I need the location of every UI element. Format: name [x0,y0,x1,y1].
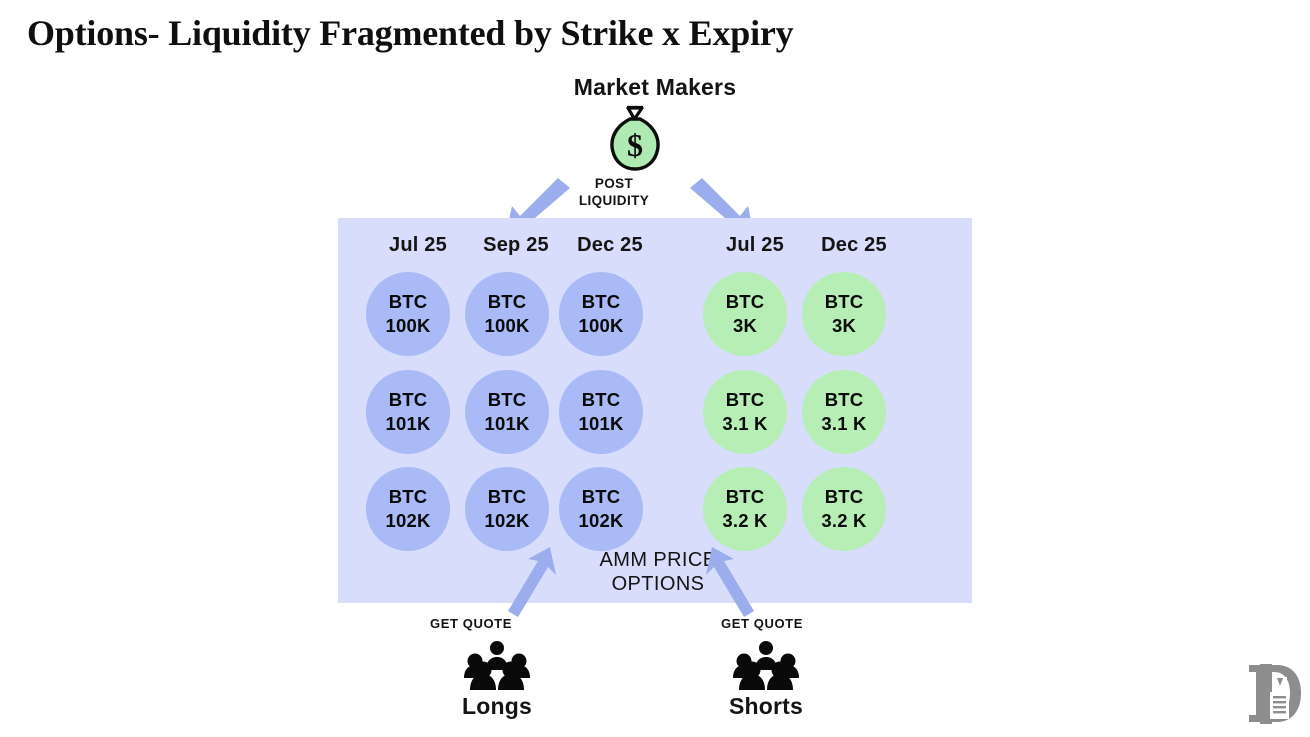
bubble-asset: BTC [488,388,527,412]
option-bubble-sep25-102k[interactable]: BTC 102K [465,467,549,551]
get-quote-label-shorts: GET QUOTE [682,616,842,631]
bubble-asset: BTC [726,485,765,509]
bubble-strike: 100K [385,314,430,338]
bubble-strike: 3.1 K [722,412,767,436]
market-makers-label: Market Makers [0,74,1310,101]
bubble-asset: BTC [825,290,864,314]
option-bubble-sep25-101k[interactable]: BTC 101K [465,370,549,454]
svg-text:$: $ [627,127,643,163]
column-header-g2-c1: Jul 25 [700,234,810,257]
option-bubble-dec25-100k[interactable]: BTC 100K [559,272,643,356]
option-bubble-dec25-102k[interactable]: BTC 102K [559,467,643,551]
option-bubble-sep25-100k[interactable]: BTC 100K [465,272,549,356]
option-bubble-jul25-3.1k[interactable]: BTC 3.1 K [703,370,787,454]
column-header-g1-c3: Dec 25 [555,234,665,257]
bubble-asset: BTC [582,388,621,412]
bubble-strike: 101K [578,412,623,436]
bubble-strike: 101K [385,412,430,436]
bubble-strike: 3.2 K [722,509,767,533]
page-title: Options- Liquidity Fragmented by Strike … [27,12,793,54]
option-bubble-jul25-100k[interactable]: BTC 100K [366,272,450,356]
bubble-strike: 100K [578,314,623,338]
bubble-asset: BTC [582,290,621,314]
column-headers: Jul 25 Sep 25 Dec 25 Jul 25 Dec 25 [338,234,972,264]
bubble-strike: 102K [578,509,623,533]
bubble-asset: BTC [825,388,864,412]
bubble-asset: BTC [582,485,621,509]
longs-label: Longs [427,693,567,720]
longs-actor[interactable]: Longs [427,640,567,720]
people-group-icon [427,640,567,692]
bubble-strike: 100K [484,314,529,338]
option-bubble-jul25-3.2k[interactable]: BTC 3.2 K [703,467,787,551]
bubble-asset: BTC [389,388,428,412]
option-bubble-dec25-101k[interactable]: BTC 101K [559,370,643,454]
bubble-asset: BTC [726,388,765,412]
get-quote-label-longs: GET QUOTE [391,616,551,631]
option-bubble-dec25-3.2k[interactable]: BTC 3.2 K [802,467,886,551]
bubble-asset: BTC [488,485,527,509]
column-header-g2-c2: Dec 25 [799,234,909,257]
option-bubble-dec25-3.1k[interactable]: BTC 3.1 K [802,370,886,454]
option-bubble-jul25-102k[interactable]: BTC 102K [366,467,450,551]
bubble-strike: 3.2 K [821,509,866,533]
bubble-asset: BTC [726,290,765,314]
bubble-strike: 102K [385,509,430,533]
bubble-asset: BTC [825,485,864,509]
publisher-logo [1243,659,1305,729]
people-group-icon [696,640,836,692]
bubble-strike: 3K [733,314,757,338]
bubble-asset: BTC [389,290,428,314]
shorts-actor[interactable]: Shorts [696,640,836,720]
bubble-asset: BTC [389,485,428,509]
option-bubble-dec25-3k[interactable]: BTC 3K [802,272,886,356]
option-bubble-jul25-3k[interactable]: BTC 3K [703,272,787,356]
bubble-asset: BTC [488,290,527,314]
money-bag-icon: $ [600,102,670,174]
bubble-strike: 3.1 K [821,412,866,436]
bubble-strike: 3K [832,314,856,338]
column-header-g1-c1: Jul 25 [363,234,473,257]
shorts-label: Shorts [696,693,836,720]
option-bubble-jul25-101k[interactable]: BTC 101K [366,370,450,454]
bubble-strike: 101K [484,412,529,436]
bubble-strike: 102K [484,509,529,533]
